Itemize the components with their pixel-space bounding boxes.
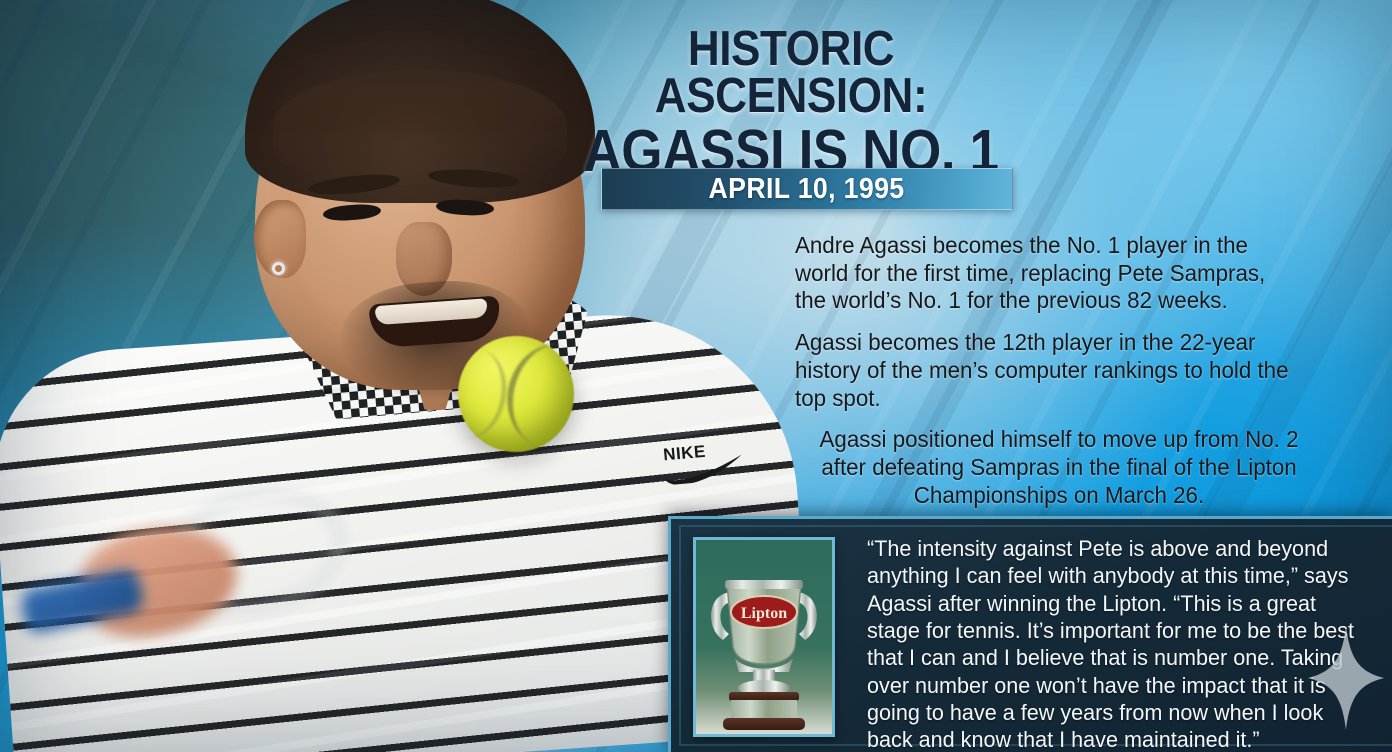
paragraph-history: Agassi becomes the 12th player in the 22… bbox=[795, 329, 1297, 412]
trophy-icon: Lipton bbox=[705, 554, 823, 732]
agassi-quote: “The intensity against Pete is above and… bbox=[867, 535, 1361, 752]
date-label: APRIL 10, 1995 bbox=[709, 173, 905, 206]
headline-block: HISTORIC ASCENSION: AGASSI IS NO. 1 bbox=[560, 26, 1022, 179]
body-copy: Andre Agassi becomes the No. 1 player in… bbox=[795, 232, 1323, 523]
paragraph-lipton: Agassi positioned himself to move up fro… bbox=[808, 426, 1310, 509]
sparkle-icon bbox=[1308, 626, 1384, 730]
svg-text:Lipton: Lipton bbox=[741, 605, 787, 622]
date-banner: APRIL 10, 1995 bbox=[601, 168, 1013, 210]
paragraph-ranking: Andre Agassi becomes the No. 1 player in… bbox=[795, 232, 1297, 315]
infographic-root: NIKE HISTORIC ASCENSION: AGASSI IS NO. 1… bbox=[0, 0, 1392, 752]
lipton-trophy-photo: Lipton bbox=[693, 537, 835, 737]
headline-line-1: HISTORIC ASCENSION: bbox=[583, 26, 999, 119]
quote-panel: Lipton “The intensity against Pete is ab… bbox=[668, 516, 1392, 752]
